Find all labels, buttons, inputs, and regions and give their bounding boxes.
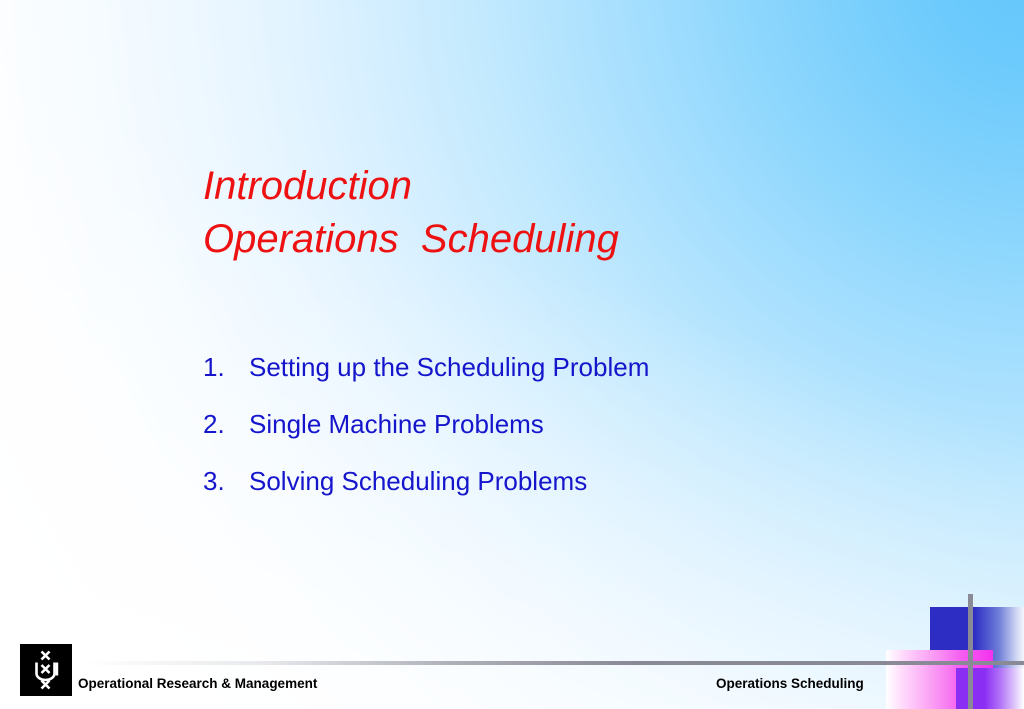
title-line-2: Operations Scheduling xyxy=(203,213,903,266)
list-item-label: Setting up the Scheduling Problem xyxy=(249,352,649,383)
deco-purple-square xyxy=(956,668,1024,709)
list-item-number: 1. xyxy=(203,352,249,383)
deco-horizontal-line xyxy=(880,661,1024,665)
list-item: 3. Solving Scheduling Problems xyxy=(203,466,963,523)
slide-title: Introduction Operations Scheduling xyxy=(203,160,903,266)
footer-divider xyxy=(0,661,1024,665)
decorative-graphic xyxy=(880,580,1024,709)
footer-left-text: Operational Research & Management xyxy=(78,676,317,691)
list-item-number: 2. xyxy=(203,409,249,440)
list-item-label: Single Machine Problems xyxy=(249,409,544,440)
list-item-number: 3. xyxy=(203,466,249,497)
footer-right-text: Operations Scheduling xyxy=(716,676,864,691)
agenda-list: 1. Setting up the Scheduling Problem 2. … xyxy=(203,352,963,523)
list-item: 2. Single Machine Problems xyxy=(203,409,963,466)
deco-vertical-line xyxy=(968,594,973,709)
presentation-slide: Introduction Operations Scheduling 1. Se… xyxy=(0,0,1024,709)
list-item-label: Solving Scheduling Problems xyxy=(249,466,587,497)
uva-logo-icon xyxy=(20,644,72,696)
title-line-1: Introduction xyxy=(203,160,903,213)
list-item: 1. Setting up the Scheduling Problem xyxy=(203,352,963,409)
